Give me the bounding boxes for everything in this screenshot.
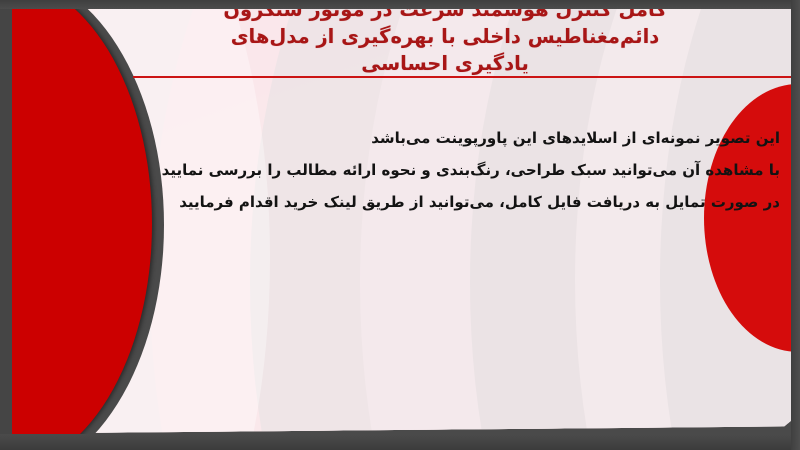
slide-frame-left (0, 0, 12, 450)
slide-body-line-3: در صورت تمایل به دریافت فایل کامل، می‌تو… (120, 186, 780, 218)
presentation-slide: کامل کنترل هوشمند سرعت در موتور سنکرون د… (0, 0, 800, 450)
slide-frame-right (791, 0, 800, 450)
slide-frame-bottom (0, 434, 800, 450)
slide-title-line-2: دائم‌مغناطیس داخلی با بهره‌گیری از مدل‌ه… (130, 23, 760, 50)
slide-title-line-3: یادگیری احساسی (130, 50, 760, 77)
slide-body-line-2: با مشاهده آن می‌توانید سبک طراحی، رنگ‌بن… (120, 154, 780, 186)
slide-frame-top (0, 0, 800, 9)
slide-title: کامل کنترل هوشمند سرعت در موتور سنکرون د… (130, 0, 760, 77)
slide-body-line-1: این تصویر نمونه‌ای از اسلایدهای این پاور… (120, 122, 780, 154)
title-divider-rule (133, 76, 791, 78)
slide-body-text: این تصویر نمونه‌ای از اسلایدهای این پاور… (120, 122, 780, 218)
